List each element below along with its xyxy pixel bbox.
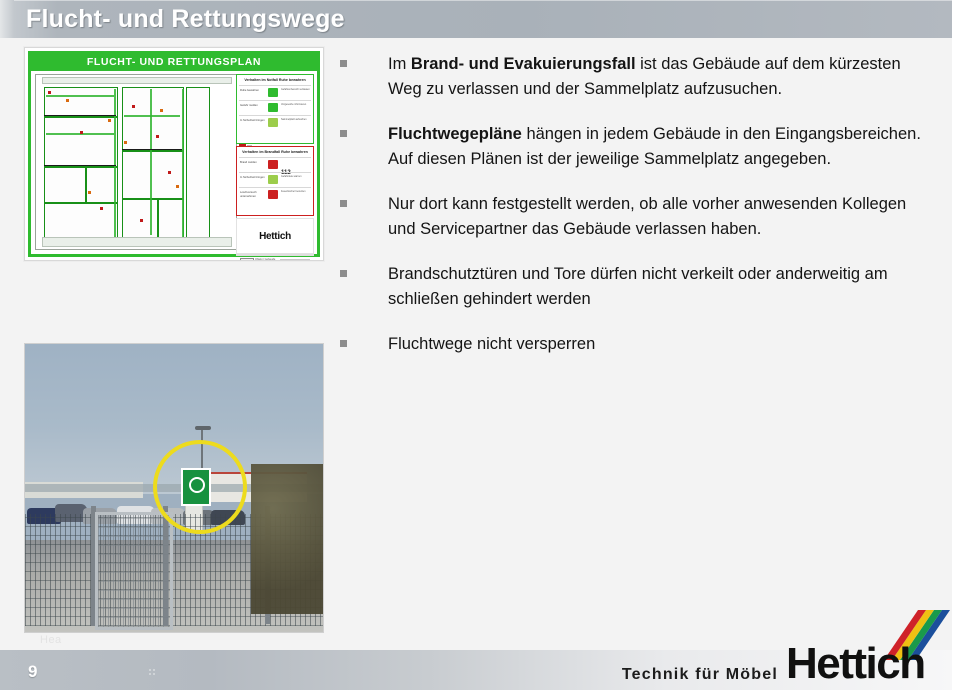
- bullet-marker-icon: [340, 130, 347, 137]
- legend-symbol-icon: [268, 190, 278, 199]
- slide-right-edge: [952, 0, 960, 690]
- photo-hedge: [251, 464, 323, 614]
- legend-symbol-icon: [268, 118, 278, 127]
- legend-row: In Sicherheit bringen Sammelplatz aufsuc…: [239, 115, 311, 130]
- plan-footer-block: Objekt / Gebaude: [236, 254, 314, 256]
- escape-plan-frame: FLUCHT- UND RETTUNGSPLAN: [28, 51, 320, 257]
- bullet-text: Nur dort kann festgestellt werden, ob al…: [388, 192, 936, 242]
- legend-row: Gefahr melden Vorgesetzte informieren: [239, 100, 311, 115]
- footer-tagline: Technik für Möbel: [622, 666, 778, 684]
- floor-plan-drawing: [35, 74, 237, 250]
- bullet-evakuierungsfall: Im Brand- und Evakuierungsfall ist das G…: [336, 52, 936, 102]
- legend-row-label: In Sicherheit bringen: [240, 176, 266, 180]
- legend-symbol-icon: [268, 88, 278, 97]
- plan-building-icon: [240, 258, 254, 261]
- brand-logo: Hettich: [786, 608, 954, 686]
- slide-content: Im Brand- und Evakuierungsfall ist das G…: [336, 52, 936, 377]
- legend-row-label: Gefahr melden: [240, 104, 266, 108]
- photo-gate: [95, 512, 173, 630]
- footer-ghost-text: Hea: [40, 634, 62, 646]
- legend-row: Brand melden 112: [239, 157, 311, 172]
- brand-name: Hettich: [786, 642, 925, 686]
- page-title: Flucht- und Rettungswege: [26, 2, 345, 38]
- legend-emergency-title: Verhalten im Notfall Ruhe bewahren: [237, 75, 313, 85]
- escape-plan-poster: FLUCHT- UND RETTUNGSPLAN: [24, 47, 324, 261]
- bullet-text: Fluchtwege nicht versperren: [388, 332, 936, 357]
- legend-row-desc: Vorgesetzte informieren: [281, 103, 310, 106]
- legend-box-fire: Verhalten im Brandfall Ruhe bewahren Bra…: [236, 146, 314, 216]
- bullet-marker-icon: [340, 200, 347, 207]
- bullet-fluchtwegeplaene: Fluchtwegepläne hängen in jedem Gebäude …: [336, 122, 936, 172]
- bullet-marker-icon: [340, 340, 347, 347]
- legend-symbol-icon: [268, 103, 278, 112]
- legend-row: In Sicherheit bringen Gefahrdete warnen: [239, 172, 311, 187]
- escape-plan-banner: FLUCHT- UND RETTUNGSPLAN: [31, 54, 317, 71]
- legend-row-desc: Feuerloscher benutzen: [281, 190, 310, 193]
- plan-legend-column: Verhalten im Notfall Ruhe bewahren Ruhe …: [236, 74, 314, 250]
- legend-row-desc: Gefahrdete warnen: [281, 175, 310, 178]
- plan-brand-name: Hettich: [259, 231, 291, 242]
- legend-row-label: Ruhe bewahren: [240, 89, 266, 93]
- legend-row: Ruhe bewahren Gefahrenbereich verlassen: [239, 85, 311, 100]
- bullet-marker-icon: [340, 270, 347, 277]
- legend-row-label: In Sicherheit bringen: [240, 119, 266, 123]
- legend-row-label: Brand melden: [240, 161, 266, 165]
- legend-symbol-icon: [268, 175, 278, 184]
- escape-plan-body: Verhalten im Notfall Ruhe bewahren Ruhe …: [31, 71, 317, 254]
- bullet-sammelplatz-kontrolle: Nur dort kann festgestellt werden, ob al…: [336, 192, 936, 242]
- photo-highlight-circle: [153, 440, 247, 534]
- legend-row-desc: Sammelplatz aufsuchen: [281, 118, 310, 121]
- footer-dot-pattern: [148, 668, 156, 676]
- legend-row-label: Loschversuch unternehmen: [240, 191, 266, 198]
- bullet-fluchtwege-frei: Fluchtwege nicht versperren: [336, 332, 936, 357]
- legend-row: Loschversuch unternehmen Feuerloscher be…: [239, 187, 311, 202]
- plan-footer-note: Objekt / Gebaude: [255, 258, 275, 261]
- legend-box-emergency: Verhalten im Notfall Ruhe bewahren Ruhe …: [236, 74, 314, 144]
- legend-symbol-icon: [268, 160, 278, 169]
- assembly-point-photo: [24, 343, 324, 633]
- bullet-text: Im Brand- und Evakuierungsfall ist das G…: [388, 52, 936, 102]
- bullet-brandschutztueren: Brandschutztüren und Tore dürfen nicht v…: [336, 262, 936, 312]
- slide: Flucht- und Rettungswege FLUCHT- UND RET…: [0, 0, 960, 690]
- header-left-accent: [0, 0, 14, 38]
- bullet-marker-icon: [340, 60, 347, 67]
- legend-row-desc: Gefahrenbereich verlassen: [281, 88, 310, 91]
- bullet-text: Fluchtwegepläne hängen in jedem Gebäude …: [388, 122, 936, 172]
- legend-fire-title: Verhalten im Brandfall Ruhe bewahren: [237, 147, 313, 157]
- plan-brand-logo: Hettich: [236, 218, 314, 254]
- bullet-text: Brandschutztüren und Tore dürfen nicht v…: [388, 262, 936, 312]
- slide-number: 9: [28, 662, 37, 682]
